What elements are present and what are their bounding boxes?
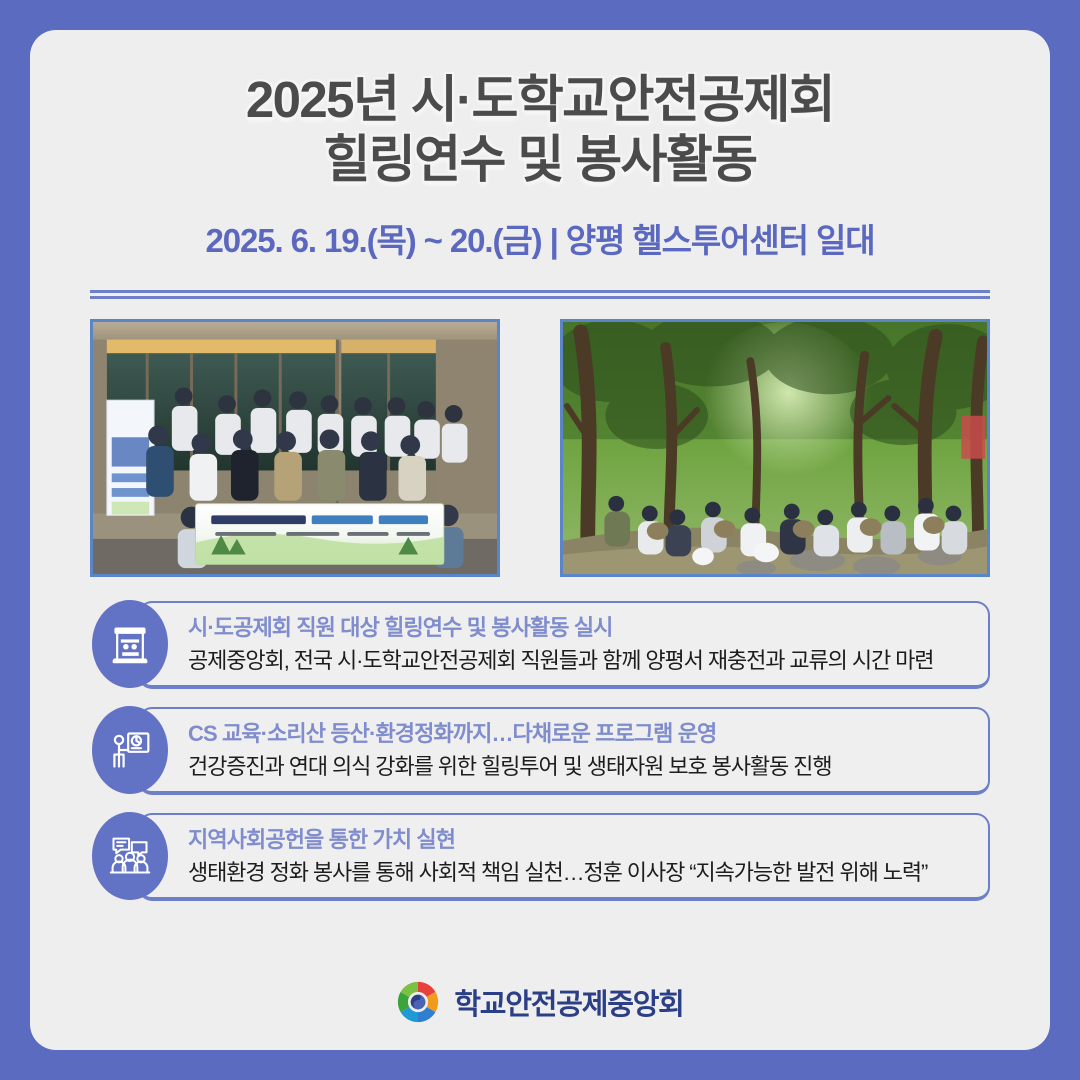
footer-org-name: 학교안전공제중앙회 xyxy=(454,981,683,1023)
pinwheel-logo-icon xyxy=(396,980,440,1024)
header: 2025년 시·도학교안전공제회 힐링연수 및 봉사활동 2025. 6. 19… xyxy=(30,70,1050,262)
presentation-chart-icon xyxy=(92,706,168,794)
info-card-list: 시·도공제회 직원 대상 힐링연수 및 봉사활동 실시 공제중앙회, 전국 시·… xyxy=(90,601,990,901)
info-card-1: 시·도공제회 직원 대상 힐링연수 및 봉사활동 실시 공제중앙회, 전국 시·… xyxy=(138,601,990,689)
forest-cleanup-photo xyxy=(560,319,990,577)
info-card-2-body: 건강증진과 연대 의식 강화를 위한 힐링투어 및 생태자원 보호 봉사활동 진… xyxy=(188,753,970,781)
info-card-3-heading: 지역사회공헌을 통한 가치 실현 xyxy=(188,826,970,854)
card-frame: 2025년 시·도학교안전공제회 힐링연수 및 봉사활동 2025. 6. 19… xyxy=(0,0,1080,1080)
group-discussion-icon xyxy=(92,812,168,900)
booth-stand-icon xyxy=(92,600,168,688)
info-card-3-body: 생태환경 정화 봉사를 통해 사회적 책임 실천…정훈 이사장 “지속가능한 발… xyxy=(188,859,970,887)
card-panel: 2025년 시·도학교안전공제회 힐링연수 및 봉사활동 2025. 6. 19… xyxy=(30,30,1050,1050)
group-photo xyxy=(90,319,500,577)
info-card-2: CS 교육·소리산 등산·환경정화까지…다채로운 프로그램 운영 건강증진과 연… xyxy=(138,707,990,795)
info-card-3: 지역사회공헌을 통한 가치 실현 생태환경 정화 봉사를 통해 사회적 책임 실… xyxy=(138,813,990,901)
photo-row xyxy=(90,319,990,577)
info-card-1-body: 공제중앙회, 전국 시·도학교안전공제회 직원들과 함께 양평서 재충전과 교류… xyxy=(188,647,970,675)
page-title-line2: 힐링연수 및 봉사활동 xyxy=(30,130,1050,190)
info-card-1-heading: 시·도공제회 직원 대상 힐링연수 및 봉사활동 실시 xyxy=(188,614,970,642)
event-date-venue: 2025. 6. 19.(목) ~ 20.(금) | 양평 헬스투어센터 일대 xyxy=(30,214,1050,262)
page-title-line1: 2025년 시·도학교안전공제회 xyxy=(30,70,1050,130)
info-card-2-heading: CS 교육·소리산 등산·환경정화까지…다채로운 프로그램 운영 xyxy=(188,720,970,748)
header-divider xyxy=(90,290,990,299)
footer: 학교안전공제중앙회 xyxy=(30,980,1050,1024)
